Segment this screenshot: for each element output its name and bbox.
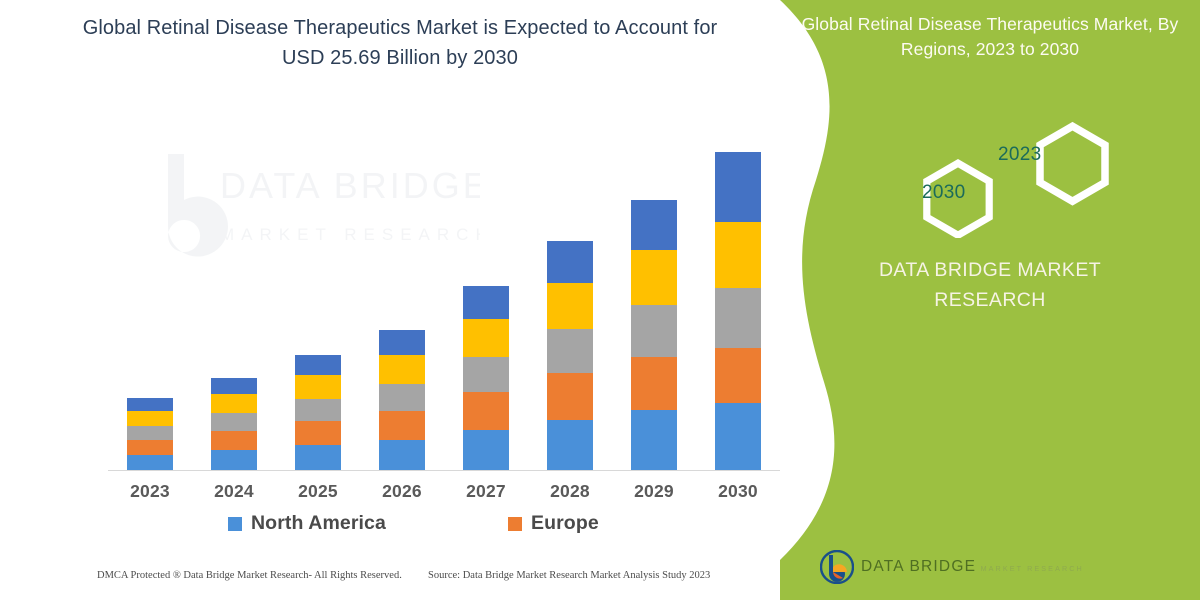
bar-segment [715,222,761,288]
green-panel-content: Global Retinal Disease Therapeutics Mark… [780,0,1200,600]
x-axis-label-2030: 2030 [698,481,778,502]
legend-item-europe[interactable]: Europe [508,512,599,535]
x-axis-labels: 20232024202520262027202820292030 [108,481,780,507]
hexagon-2030-label: 2030 [922,182,965,204]
brand-line-1: DATA BRIDGE MARKET [800,255,1180,285]
legend-item-north-america[interactable]: North America [228,512,386,535]
bar-segment [211,378,257,394]
footer: DMCA Protected ® Data Bridge Market Rese… [0,570,830,590]
bar-segment [379,330,425,355]
bar-segment [631,200,677,250]
x-axis-label-2029: 2029 [614,481,694,502]
bar-segment [295,421,341,445]
bar-column-2030 [715,152,761,470]
bar-segment [379,355,425,384]
footer-copyright: DMCA Protected ® Data Bridge Market Rese… [97,570,402,581]
bar-segment [715,288,761,348]
footer-source: Source: Data Bridge Market Research Mark… [428,570,710,581]
bar-segment [295,445,341,470]
x-axis-label-2028: 2028 [530,481,610,502]
company-logo: DATA BRIDGE MARKET RESEARCH [820,550,1084,584]
databridge-logo-icon [820,550,854,584]
hexagon-pair: 2023 2030 [880,108,1150,238]
logo-name: DATA BRIDGE [861,558,976,575]
panel-title: Global Retinal Disease Therapeutics Mark… [800,12,1180,62]
bar-segment [379,384,425,411]
svg-text:DATA BRIDGE: DATA BRIDGE [220,165,480,206]
bar-segment [295,375,341,399]
infographic-root: Global Retinal Disease Therapeutics Mark… [0,0,1200,600]
x-axis-label-2024: 2024 [194,481,274,502]
bar-column-2023 [127,398,173,470]
x-axis-label-2023: 2023 [110,481,190,502]
bar-series-group [108,120,780,470]
watermark-logo: DATA BRIDGE MARKET RESEARCH [150,148,480,288]
bar-column-2027 [463,286,509,470]
bar-segment [463,430,509,470]
x-axis-label-2027: 2027 [446,481,526,502]
brand-line-2: RESEARCH [800,285,1180,315]
bar-column-2026 [379,330,425,470]
bar-segment [127,426,173,440]
bar-segment [379,440,425,470]
bar-segment [211,413,257,431]
x-axis-label-2025: 2025 [278,481,358,502]
bar-segment [547,373,593,420]
legend-label: North America [251,512,386,535]
bar-segment [631,357,677,410]
hexagon-2023 [1040,126,1105,201]
logo-wordmark: DATA BRIDGE MARKET RESEARCH [861,559,1084,575]
bar-segment [463,286,509,319]
svg-text:MARKET RESEARCH: MARKET RESEARCH [220,225,480,244]
bar-segment [211,450,257,470]
bar-segment [715,152,761,222]
bar-segment [547,283,593,329]
bar-segment [715,403,761,470]
bar-segment [127,398,173,411]
x-axis-line [108,470,780,471]
bar-segment [379,411,425,440]
legend-swatch-icon [228,517,242,531]
bar-segment [547,241,593,283]
legend-label: Europe [531,512,599,535]
bar-segment [547,329,593,373]
bar-segment [463,319,509,357]
page-title: Global Retinal Disease Therapeutics Mark… [70,13,730,73]
hexagon-2023-label: 2023 [998,144,1041,166]
bar-segment [127,411,173,426]
bar-segment [295,399,341,421]
chart-legend: North AmericaEurope [108,512,780,542]
chart-area: Global Retinal Disease Therapeutics Mark… [0,0,830,600]
brand-name: DATA BRIDGE MARKET RESEARCH [800,255,1180,315]
bar-column-2025 [295,355,341,470]
plot-region [0,0,830,600]
bar-segment [211,431,257,450]
bar-segment [211,394,257,413]
bar-segment [547,420,593,470]
bar-column-2028 [547,241,593,470]
bar-segment [631,250,677,305]
bar-segment [631,410,677,470]
bar-segment [631,305,677,357]
bar-column-2024 [211,378,257,470]
bar-segment [715,348,761,403]
bar-column-2029 [631,200,677,470]
bar-segment [127,455,173,470]
bar-segment [463,392,509,430]
x-axis-label-2026: 2026 [362,481,442,502]
bar-segment [295,355,341,375]
logo-tagline: MARKET RESEARCH [981,564,1084,573]
bar-segment [127,440,173,455]
bar-segment [463,357,509,392]
legend-swatch-icon [508,517,522,531]
